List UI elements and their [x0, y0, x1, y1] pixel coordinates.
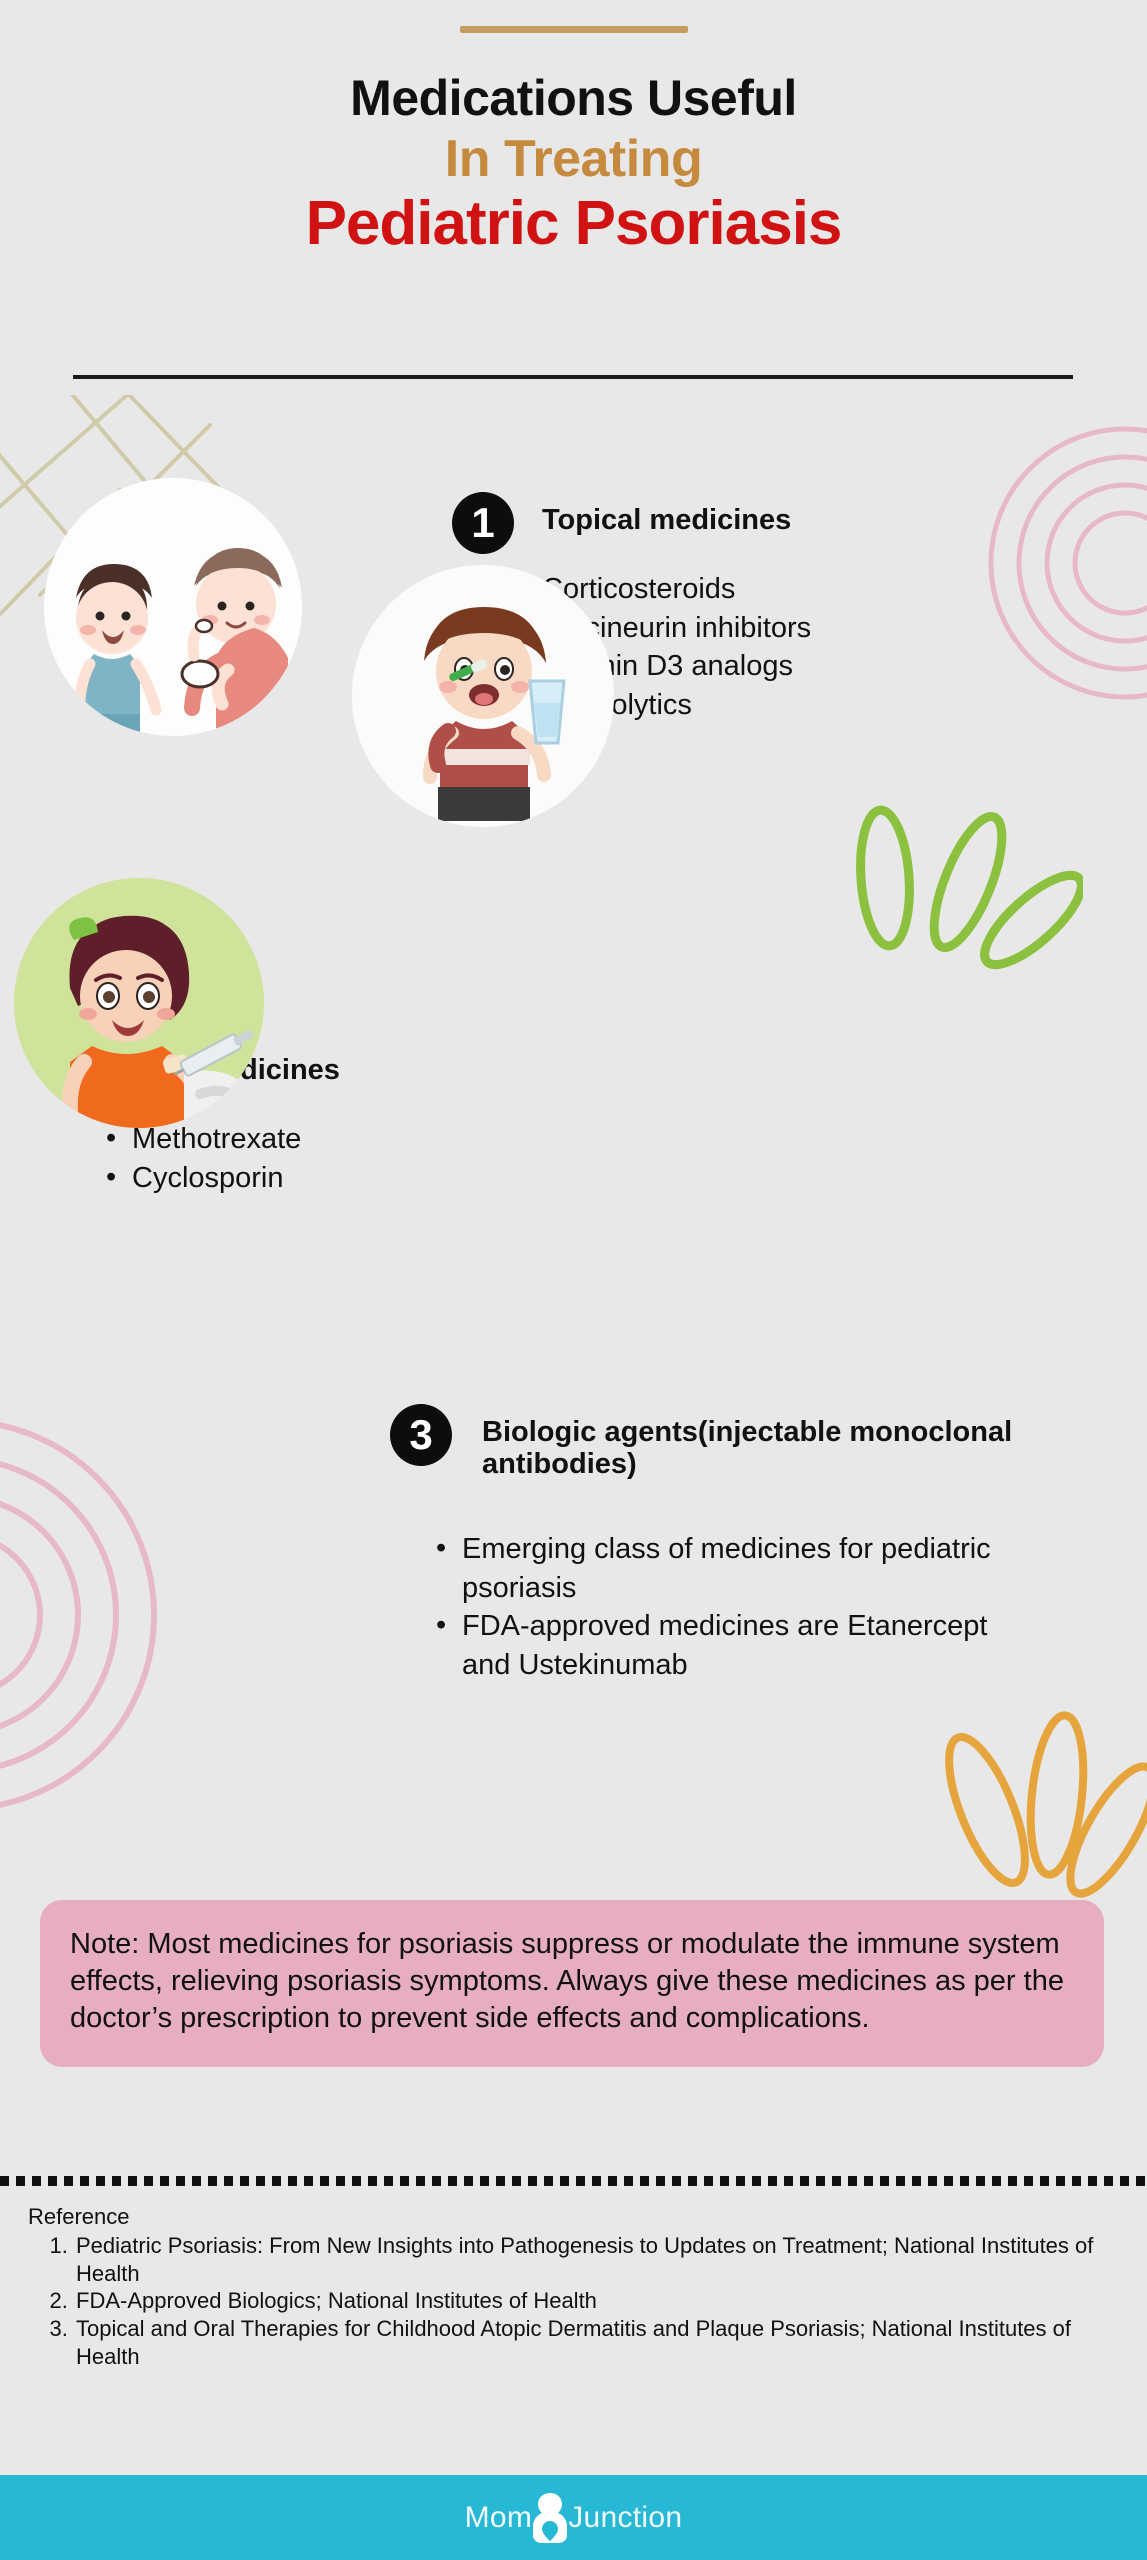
section-number-3: 3 — [390, 1404, 452, 1466]
note-text: Note: Most medicines for psoriasis suppr… — [70, 1926, 1074, 2037]
reference-section: Reference Pediatric Psoriasis: From New … — [28, 2204, 1128, 2371]
title-line-3: Pediatric Psoriasis — [0, 191, 1147, 258]
reference-list: Pediatric Psoriasis: From New Insights i… — [28, 2232, 1128, 2371]
list-item: Cyclosporin — [102, 1159, 522, 1198]
list-item: Methotrexate — [102, 1120, 522, 1159]
list-item: FDA-approved medicines are Etanercept an… — [432, 1607, 992, 1684]
list-item: Corticosteroids — [512, 570, 982, 609]
title-line-2: In Treating — [0, 131, 1147, 187]
title-line-1: Medications Useful — [0, 72, 1147, 125]
mother-and-baby-icon — [530, 2491, 570, 2545]
reference-item: Topical and Oral Therapies for Childhood… — [74, 2315, 1128, 2370]
green-leaves-decoration — [828, 790, 1083, 985]
section-bullets-3: Emerging class of medicines for pediatri… — [432, 1530, 992, 1684]
section-heading-3: Biologic agents(injectable monoclonal an… — [482, 1416, 1072, 1481]
logo-text-left: Mom — [465, 2501, 533, 2535]
reference-item: Pediatric Psoriasis: From New Insights i… — [74, 2232, 1128, 2287]
pink-rings-decoration-left — [0, 1400, 240, 1830]
title-divider — [73, 375, 1073, 379]
reference-item: FDA-Approved Biologics; National Institu… — [74, 2287, 1128, 2315]
list-item: Emerging class of medicines for pediatri… — [432, 1530, 992, 1607]
illustration-topical-care — [44, 478, 302, 736]
page-title: Medications Useful In Treating Pediatric… — [0, 72, 1147, 258]
section-bullets-2: Methotrexate Cyclosporin — [102, 1120, 522, 1197]
section-heading-1: Topical medicines — [542, 504, 972, 536]
momjunction-logo[interactable]: Mom Junction — [465, 2491, 683, 2545]
dotted-divider — [0, 2176, 1147, 2186]
top-accent-rule — [460, 26, 688, 33]
illustration-oral-medicine — [352, 565, 614, 827]
reference-title: Reference — [28, 2204, 1128, 2230]
footer-bar: Mom Junction — [0, 2475, 1147, 2560]
note-box: Note: Most medicines for psoriasis suppr… — [40, 1900, 1104, 2067]
logo-text-right: Junction — [568, 2501, 682, 2535]
section-number-1: 1 — [452, 492, 514, 554]
illustration-biologic-injection — [14, 878, 264, 1128]
